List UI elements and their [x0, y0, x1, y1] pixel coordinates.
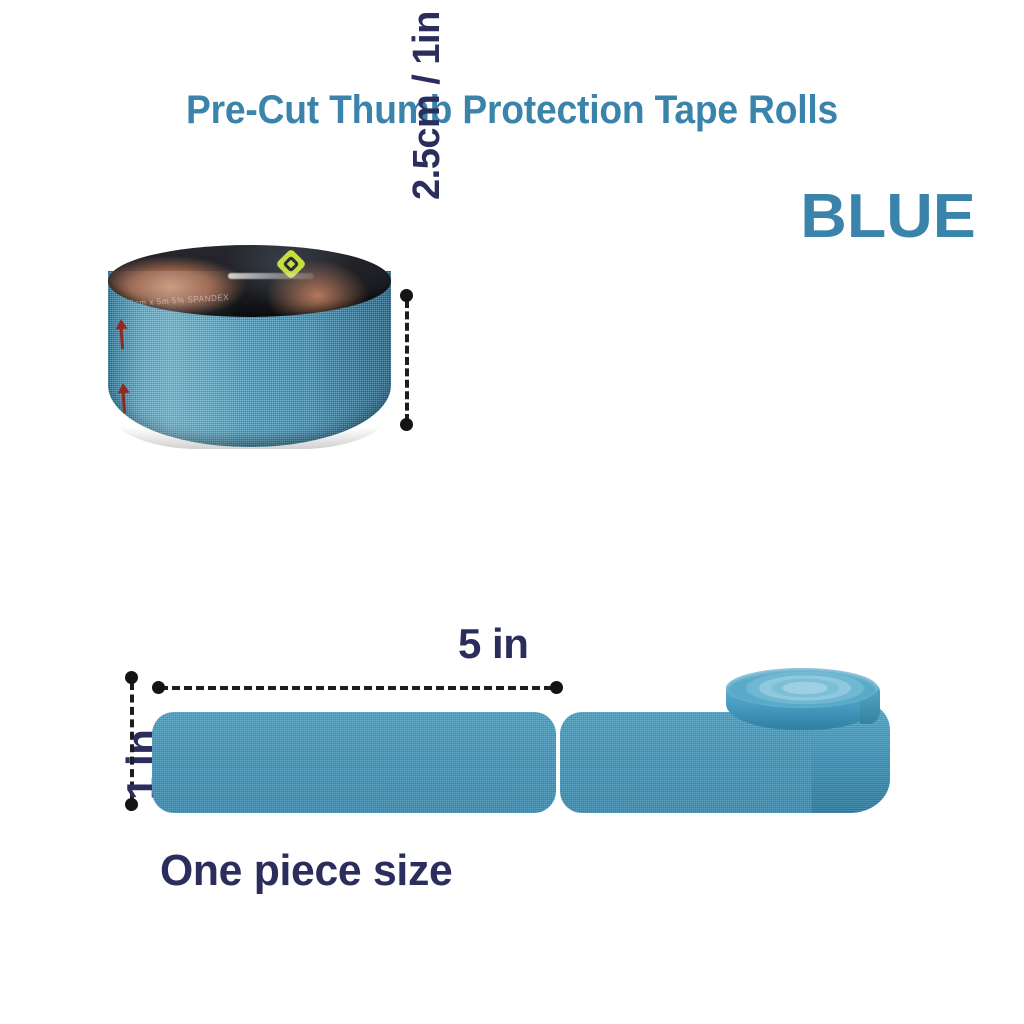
page-title: Pre-Cut Thumb Protection Tape Rolls — [36, 88, 988, 133]
dimension-endpoint-dot — [125, 671, 138, 684]
infographic-canvas: Pre-Cut Thumb Protection Tape Rolls BLUE… — [0, 0, 1024, 1024]
brand-wordmark — [228, 273, 314, 279]
dimension-endpoint-dot — [400, 289, 413, 302]
roll-spec-text: 2.5cm x 5m 5% SPANDEX — [122, 286, 338, 317]
roll-height-dimension-line — [405, 300, 409, 422]
tape-roll-label-disc: 2.5cm x 5m 5% SPANDEX — [108, 245, 391, 317]
stretch-direction-arrow-icon — [117, 383, 131, 414]
dimension-endpoint-dot — [550, 681, 563, 694]
piece-width-dimension-line — [160, 686, 552, 690]
partial-roll-spiral-face — [726, 668, 878, 708]
color-name-label: BLUE — [800, 186, 976, 248]
one-piece-size-caption: One piece size — [160, 846, 452, 896]
piece-width-dimension-label: 5 in — [458, 620, 528, 668]
roll-height-dimension-label: 2.5cm / 1in — [406, 11, 449, 200]
dimension-endpoint-dot — [400, 418, 413, 431]
tape-roll-image: 2.5cm x 5m 5% SPANDEX — [100, 243, 400, 475]
tape-strip-piece — [152, 712, 556, 813]
dimension-endpoint-dot — [152, 681, 165, 694]
partial-tape-roll — [726, 668, 878, 730]
stretch-direction-arrow-icon — [115, 319, 129, 350]
